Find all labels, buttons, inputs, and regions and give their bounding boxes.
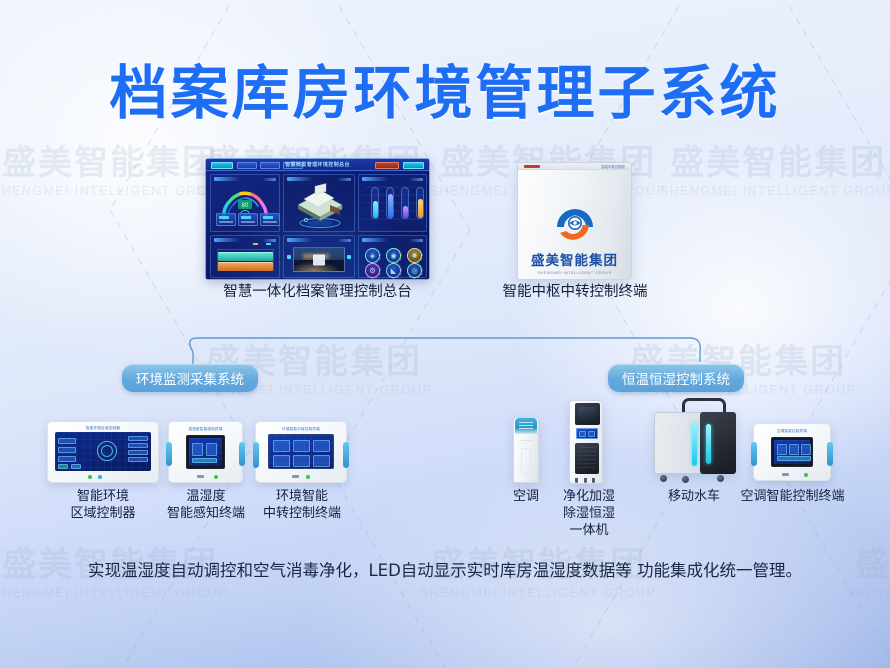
device-area-controller[interactable]: 智能环境区域控制器 [47, 421, 159, 483]
cart-wheel [717, 475, 724, 482]
watermark-en: SHENGMEI INTELLIGENT GROUP [0, 184, 228, 198]
area-band [218, 262, 273, 271]
function-icon-purify[interactable]: ✹ [407, 248, 422, 263]
device-air-conditioner[interactable] [513, 405, 539, 483]
console-nav-chip[interactable] [237, 162, 257, 169]
caption-hub: 智能中枢中转控制终端 [455, 283, 695, 302]
caption-ac-terminal: 空调智能控制终端 [735, 489, 850, 506]
purifier-foot [592, 478, 595, 483]
panel-realtime-data [358, 174, 427, 232]
device-screen[interactable] [268, 434, 334, 469]
caption-console: 智慧一体化档案管理控制总台 [145, 283, 490, 302]
watermark-en: SHENGMEI INTELLIGENT GROUP [845, 586, 890, 600]
hub-body: 智能中枢控制柜 盛美智能集团 SHENGMEI INTELLIGENT GROU… [517, 162, 632, 280]
device-water-cart[interactable] [648, 398, 740, 484]
page-title: 档案库房环境管理子系统 [0, 46, 890, 130]
purifier-lower-module [575, 443, 599, 474]
watermark-en: SHENGMEI INTELLIGENT GROUP [420, 586, 656, 600]
side-accent [343, 442, 349, 468]
hub-brand-bar [524, 165, 540, 168]
area-chart [217, 249, 274, 271]
caption-env-relay: 环境智能 中转控制终端 [248, 489, 356, 523]
caption-area-controller: 智能环境 区域控制器 [30, 489, 176, 523]
purifier-top-module [575, 403, 600, 425]
function-icon-analysis[interactable]: ◎ [407, 263, 422, 278]
function-icon-alarm[interactable]: ◣ [386, 263, 401, 278]
hub-logo-cn: 盛美智能集团 [518, 249, 631, 269]
uv-lamp-icon [706, 424, 711, 464]
watermark-en: SHENGMEI INTELLIGENT GROUP [0, 586, 228, 600]
power-led-icon [306, 475, 310, 479]
device-purifier[interactable] [569, 400, 603, 484]
hub-top-label: 智能中枢控制柜 [601, 164, 625, 169]
caption-water-cart: 移动水车 [646, 489, 742, 506]
hub-logo-en: SHENGMEI INTELLIGENT GROUP [518, 270, 631, 275]
video-feed[interactable] [293, 247, 345, 272]
console-user-chip[interactable] [403, 162, 424, 169]
side-accent [239, 442, 245, 466]
gauge-value: 80 [242, 203, 249, 209]
hub-logo: 盛美智能集团 SHENGMEI INTELLIGENT GROUP [518, 203, 631, 275]
console-monitor[interactable]: 智慧档案管理环境控制总台 80 [205, 158, 430, 280]
power-led-icon [214, 475, 218, 479]
purifier-foot [584, 478, 587, 483]
prev-arrow-icon[interactable] [287, 255, 291, 259]
device-ac-terminal[interactable]: 空调智能控制终端 [753, 423, 831, 481]
side-accent [827, 442, 833, 466]
side-accent [253, 442, 259, 468]
building-3d-model [284, 175, 356, 233]
console-header-title: 智慧档案管理环境控制总台 [285, 161, 350, 168]
uv-lamp-icon [692, 422, 697, 466]
next-arrow-icon[interactable] [347, 255, 351, 259]
side-accent [166, 442, 172, 466]
cart-wheel [682, 476, 689, 483]
panel-environment-monitor: 80 [210, 174, 280, 232]
bar-item [416, 187, 424, 219]
device-screen[interactable] [55, 432, 151, 471]
legend-swatch [266, 243, 271, 245]
power-led-icon [804, 473, 808, 477]
panel-3d-model [283, 174, 355, 232]
device-screen-title: 环境智能中转控制终端 [256, 427, 346, 432]
panel-temp-humidity-curve [210, 235, 280, 278]
console-nav-chip[interactable] [260, 162, 280, 169]
power-led-icon [88, 475, 92, 479]
badge-climate-system[interactable]: 恒温恒湿控制系统 [608, 364, 744, 392]
badge-monitor-system[interactable]: 环境监测采集系统 [122, 364, 258, 392]
function-icon-humidity[interactable]: ◉ [386, 248, 401, 263]
side-accent [751, 442, 757, 466]
device-screen-title: 空调智能控制终端 [754, 429, 830, 434]
area-band [218, 252, 273, 261]
device-screen-title: 智能环境区域控制器 [48, 426, 158, 431]
panel-function-control: ◈ ◉ ✹ ⚙ ◣ ◎ [358, 235, 427, 278]
bar-item [401, 187, 409, 219]
device-case: 智能环境区域控制器 [47, 421, 159, 483]
function-icon-monitor[interactable]: ◈ [365, 248, 380, 263]
hub-cabinet[interactable]: 智能中枢控制柜 盛美智能集团 SHENGMEI INTELLIGENT GROU… [517, 162, 632, 280]
watermark: 盛美智能集团 SHENGMEI INTELLIGENT GROUP [660, 146, 890, 198]
device-button[interactable] [782, 473, 789, 476]
panel-video-surveillance [283, 235, 355, 278]
purifier-foot [575, 478, 578, 483]
caption-air-conditioner: 空调 [496, 489, 556, 506]
console-alert-chip[interactable] [375, 162, 399, 169]
status-led-icon [98, 475, 102, 479]
bar-item [386, 187, 394, 219]
footer-description: 实现温湿度自动调控和空气消毒净化，LED自动显示实时库房温湿度数据等 功能集成化… [0, 558, 890, 584]
device-env-relay[interactable]: 环境智能中转控制终端 [255, 421, 347, 483]
device-th-sensor[interactable]: 温湿度智能感知终端 [168, 421, 243, 483]
device-case: 空调智能控制终端 [753, 423, 831, 481]
purifier-display[interactable] [576, 428, 598, 439]
mini-card[interactable] [216, 213, 236, 226]
legend-swatch [253, 243, 258, 245]
device-button[interactable] [292, 475, 299, 478]
device-screen[interactable] [771, 437, 813, 467]
device-screen[interactable] [186, 435, 225, 469]
mini-card[interactable] [260, 213, 280, 226]
ac-body [513, 417, 539, 483]
caption-purifier: 净化加湿 除湿恒湿 一体机 [550, 489, 628, 540]
play-icon[interactable] [313, 254, 325, 265]
device-screen-title: 温湿度智能感知终端 [169, 427, 242, 432]
shengmei-logo-icon [553, 203, 597, 247]
device-button[interactable] [197, 475, 204, 478]
cart-wheel [660, 475, 667, 482]
console-screen: 智慧档案管理环境控制总台 80 [206, 159, 429, 279]
bar-item [371, 187, 379, 219]
hub-top-panel: 智能中枢控制柜 [518, 163, 631, 170]
watermark-en: SHENGMEI INTELLIGENT GROUP [660, 184, 890, 198]
watermark-cn: 盛美智能集团 [0, 146, 228, 182]
console-header: 智慧档案管理环境控制总台 [206, 159, 429, 171]
caption-th-sensor: 温湿度 智能感知终端 [160, 489, 252, 523]
console-nav-chip[interactable] [211, 162, 233, 169]
mini-card[interactable] [238, 213, 258, 226]
device-case: 温湿度智能感知终端 [168, 421, 243, 483]
ac-air-outlet [515, 418, 537, 434]
function-icon-device[interactable]: ⚙ [365, 263, 380, 278]
watermark: 盛美智能集团 SHENGMEI INTELLIGENT GROUP [0, 146, 228, 198]
watermark-cn: 盛美智能集团 [660, 146, 890, 182]
device-case: 环境智能中转控制终端 [255, 421, 347, 483]
